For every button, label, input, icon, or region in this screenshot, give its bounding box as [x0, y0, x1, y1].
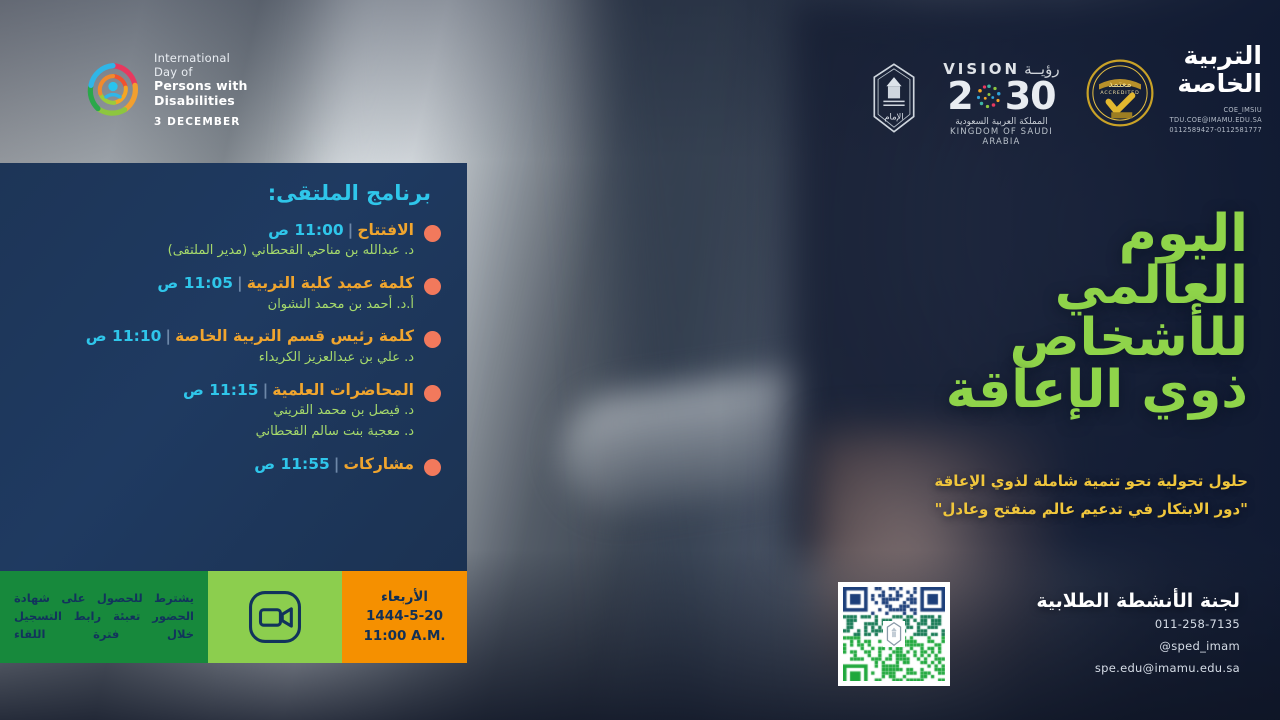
idpd-line-2: Day of: [154, 66, 248, 80]
bullet-icon: [424, 385, 441, 402]
idpd-date: 3 DECEMBER: [154, 116, 248, 128]
department-contact-email: TDU.COE@IMAMU.EDU.SA: [1169, 115, 1262, 125]
schedule-item: كلمة عميد كلية التربية|11:05 صأ.د. أحمد …: [26, 274, 441, 314]
idpd-line-4: Disabilities: [154, 94, 248, 109]
poster-canvas: International Day of Persons with Disabi…: [0, 0, 1280, 720]
vision-kingdom-english: KINGDOM OF SAUDI ARABIA: [931, 127, 1071, 147]
idpd-line-1: International: [154, 52, 248, 66]
idpd-logo-text: International Day of Persons with Disabi…: [154, 52, 248, 128]
vision-dots-icon: [974, 81, 1004, 111]
event-date-block: الأربعاء 1444-5-20 11:00 A.M.: [342, 571, 467, 663]
page-title: اليومالعالميللأشخاصذوي الإعاقة: [818, 208, 1248, 416]
schedule-item-title: مشاركات: [343, 455, 414, 473]
schedule-item-speaker: أ.د. أحمد بن محمد النشوان: [26, 296, 414, 315]
schedule-item-body: الافتتاح|11:00 صد. عبدالله بن مناحي القح…: [26, 221, 414, 261]
schedule-item-time: 11:55 ص: [254, 455, 330, 473]
department-brand: التربية الخاصة COE_IMSIU TDU.COE@IMAMU.E…: [1169, 42, 1262, 136]
page-title-line: للأشخاص: [818, 312, 1248, 364]
bullet-icon: [424, 459, 441, 476]
schedule-item-time: 11:15 ص: [183, 381, 259, 399]
qr-center-logo: [883, 621, 905, 647]
idpd-line-3: Persons with: [154, 79, 248, 94]
imsiu-shield-mini-icon: [884, 622, 904, 646]
schedule-item-separator: |: [237, 274, 243, 292]
schedule-item-title: الافتتاح: [357, 221, 414, 239]
schedule-item: الافتتاح|11:00 صد. عبدالله بن مناحي القح…: [26, 221, 441, 261]
event-time: 11:00 A.M.: [363, 628, 445, 646]
schedule-item-body: كلمة رئيس قسم التربية الخاصة|11:10 صد. ع…: [26, 327, 414, 367]
schedule-item-separator: |: [348, 221, 354, 239]
schedule-item-body: المحاضرات العلمية|11:15 صد. فيصل بن محمد…: [26, 381, 414, 442]
attendance-note-text: يشترط للحصول على شهادة الحضور تعبئة رابط…: [14, 590, 194, 643]
video-meeting-block[interactable]: [208, 571, 342, 663]
svg-text:معتمد: معتمد: [1109, 79, 1132, 90]
contact-phone: 011-258-7135: [1036, 614, 1240, 634]
schedule-item-separator: |: [165, 327, 171, 345]
contact-social: @sped_imam: [1036, 636, 1240, 656]
event-date: 1444-5-20: [366, 608, 443, 626]
schedule-item-title: كلمة رئيس قسم التربية الخاصة: [175, 327, 414, 345]
schedule-item-headline: كلمة رئيس قسم التربية الخاصة|11:10 ص: [26, 327, 414, 346]
schedule-item-speaker: د. معجبة بنت سالم القحطاني: [26, 423, 414, 442]
department-contact-phones: 0112589427-0112581777: [1169, 125, 1262, 135]
schedule-item-time: 11:10 ص: [86, 327, 162, 345]
event-subtitle-line: "دور الابتكار في تدعيم عالم منفتح وعادل": [808, 496, 1248, 524]
program-schedule-list: الافتتاح|11:00 صد. عبدالله بن مناحي القح…: [26, 221, 441, 476]
idpd-logo: International Day of Persons with Disabi…: [84, 52, 248, 128]
department-title-line-1: التربية: [1169, 42, 1262, 70]
schedule-item-speaker: د. علي بن عبدالعزيز الكريداء: [26, 349, 414, 368]
schedule-item-speaker: د. عبدالله بن مناحي القحطاني (مدير الملت…: [26, 242, 414, 261]
event-subtitle-line: حلول تحولية نحو تنمية شاملة لذوي الإعاقة: [808, 468, 1248, 496]
qr-code[interactable]: [838, 582, 950, 686]
vision-2030-logo: VISION رؤيــة 2 30: [931, 60, 1071, 147]
contact-email: spe.edu@imamu.edu.sa: [1036, 658, 1240, 678]
schedule-item-speaker: د. فيصل بن محمد القريني: [26, 402, 414, 421]
department-contact-code: COE_IMSIU: [1169, 105, 1262, 115]
department-title-line-2: الخاصة: [1169, 70, 1262, 98]
attendance-note-block: يشترط للحصول على شهادة الحضور تعبئة رابط…: [0, 571, 208, 663]
schedule-item-separator: |: [334, 455, 340, 473]
program-panel: برنامج الملتقى: الافتتاح|11:00 صد. عبدال…: [0, 163, 467, 571]
accreditation-seal-icon: معتمد ACCREDITED: [1085, 58, 1155, 128]
event-subtitle: حلول تحولية نحو تنمية شاملة لذوي الإعاقة…: [808, 468, 1248, 524]
schedule-item: مشاركات|11:55 ص: [26, 455, 441, 476]
department-contact: COE_IMSIU TDU.COE@IMAMU.EDU.SA 011258942…: [1169, 105, 1262, 136]
bottom-info-strip: يشترط للحصول على شهادة الحضور تعبئة رابط…: [0, 571, 467, 663]
video-camera-icon[interactable]: [246, 588, 304, 646]
program-heading: برنامج الملتقى:: [26, 181, 431, 205]
schedule-item: المحاضرات العلمية|11:15 صد. فيصل بن محمد…: [26, 381, 441, 442]
vision-number: 2 30: [931, 78, 1071, 114]
vision-number-right: 30: [1005, 78, 1056, 114]
bullet-icon: [424, 331, 441, 348]
svg-text:الإمام: الإمام: [885, 112, 904, 123]
schedule-item-headline: الافتتاح|11:00 ص: [26, 221, 414, 240]
imsiu-shield-icon: الإمام: [871, 62, 917, 134]
schedule-item-time: 11:00 ص: [268, 221, 344, 239]
bullet-icon: [424, 278, 441, 295]
contact-title: لجنة الأنشطة الطلابية: [1036, 590, 1240, 612]
schedule-item-headline: مشاركات|11:55 ص: [26, 455, 414, 474]
page-title-line: اليوم: [818, 208, 1248, 260]
department-title: التربية الخاصة: [1169, 42, 1262, 98]
bullet-icon: [424, 225, 441, 242]
schedule-item-title: كلمة عميد كلية التربية: [247, 274, 414, 292]
event-day: الأربعاء: [381, 589, 428, 607]
page-title-line: العالمي: [818, 260, 1248, 312]
schedule-item-time: 11:05 ص: [157, 274, 233, 292]
schedule-item-headline: كلمة عميد كلية التربية|11:05 ص: [26, 274, 414, 293]
vision-number-left: 2: [947, 78, 972, 114]
idpd-circle-icon: [84, 60, 142, 120]
student-activities-contact: لجنة الأنشطة الطلابية 011-258-7135 @sped…: [1036, 590, 1240, 678]
schedule-item-body: مشاركات|11:55 ص: [26, 455, 414, 474]
schedule-item: كلمة رئيس قسم التربية الخاصة|11:10 صد. ع…: [26, 327, 441, 367]
schedule-item-title: المحاضرات العلمية: [272, 381, 414, 399]
schedule-item-separator: |: [263, 381, 269, 399]
header-logo-cluster: الإمام VISION رؤيــة 2: [871, 42, 1262, 147]
schedule-item-headline: المحاضرات العلمية|11:15 ص: [26, 381, 414, 400]
schedule-item-body: كلمة عميد كلية التربية|11:05 صأ.د. أحمد …: [26, 274, 414, 314]
page-title-line: ذوي الإعاقة: [818, 364, 1248, 416]
vision-kingdom-arabic: المملكة العربية السعودية: [931, 117, 1071, 127]
